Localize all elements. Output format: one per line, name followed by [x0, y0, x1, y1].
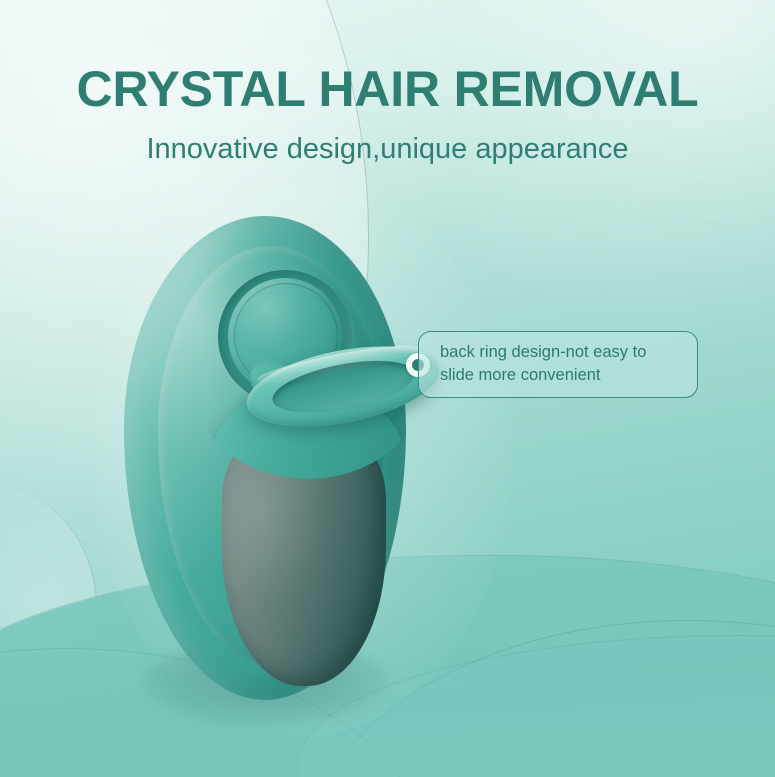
- product-banner: CRYSTAL HAIR REMOVAL Innovative design,u…: [0, 0, 775, 777]
- product-image: [118, 210, 418, 710]
- page-title: CRYSTAL HAIR REMOVAL: [0, 63, 775, 116]
- feature-callout: back ring design-not easy to slide more …: [418, 331, 698, 398]
- feature-callout-text: back ring design-not easy to slide more …: [440, 341, 683, 387]
- page-subtitle: Innovative design,unique appearance: [0, 134, 775, 166]
